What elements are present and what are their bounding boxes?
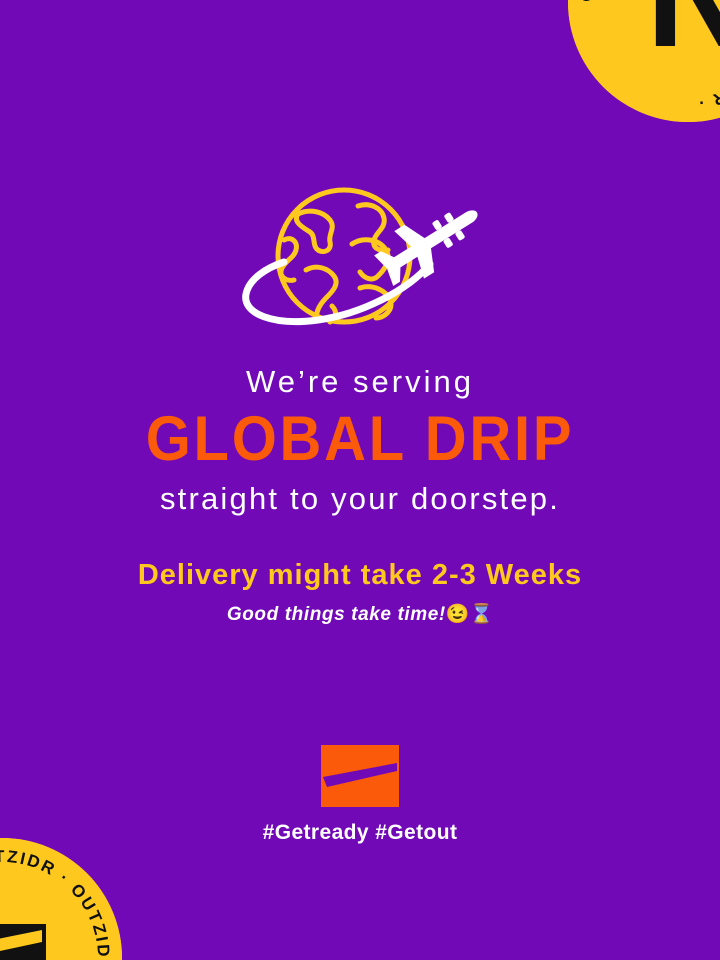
brand-badge-top-right: OUTZIDR · OUTZIDR · OUTZIDR · OUTZIDR · … <box>568 0 720 122</box>
copy-block: We’re serving GLOBAL DRIP straight to yo… <box>0 362 720 628</box>
eyebrow-text: We’re serving <box>0 362 720 402</box>
hashtags-text: #Getready #Getout <box>0 819 720 847</box>
brand-z-mark-icon <box>321 745 399 807</box>
reassurance-text: Good things take time! <box>227 604 446 625</box>
reassurance-note: Good things take time!😉⌛ <box>0 602 720 628</box>
badge-mark-letter: N <box>646 0 720 78</box>
brand-badge-bottom-left: OUTZIDR · OUTZIDR · OUTZIDR · OUTZIDR · … <box>0 838 122 960</box>
globe-plane-illustration <box>232 178 488 346</box>
reassurance-emoji: 😉⌛ <box>446 604 493 625</box>
orbit-trail <box>246 262 430 322</box>
brand-lockup: #Getready #Getout <box>0 745 720 847</box>
delivery-note-text: Delivery might take 2-3 Weeks <box>0 556 720 594</box>
subline-text: straight to your doorstep. <box>0 478 720 520</box>
poster-canvas: OUTZIDR · OUTZIDR · OUTZIDR · OUTZIDR · … <box>0 0 720 960</box>
headline-text: GLOBAL DRIP <box>29 406 691 472</box>
